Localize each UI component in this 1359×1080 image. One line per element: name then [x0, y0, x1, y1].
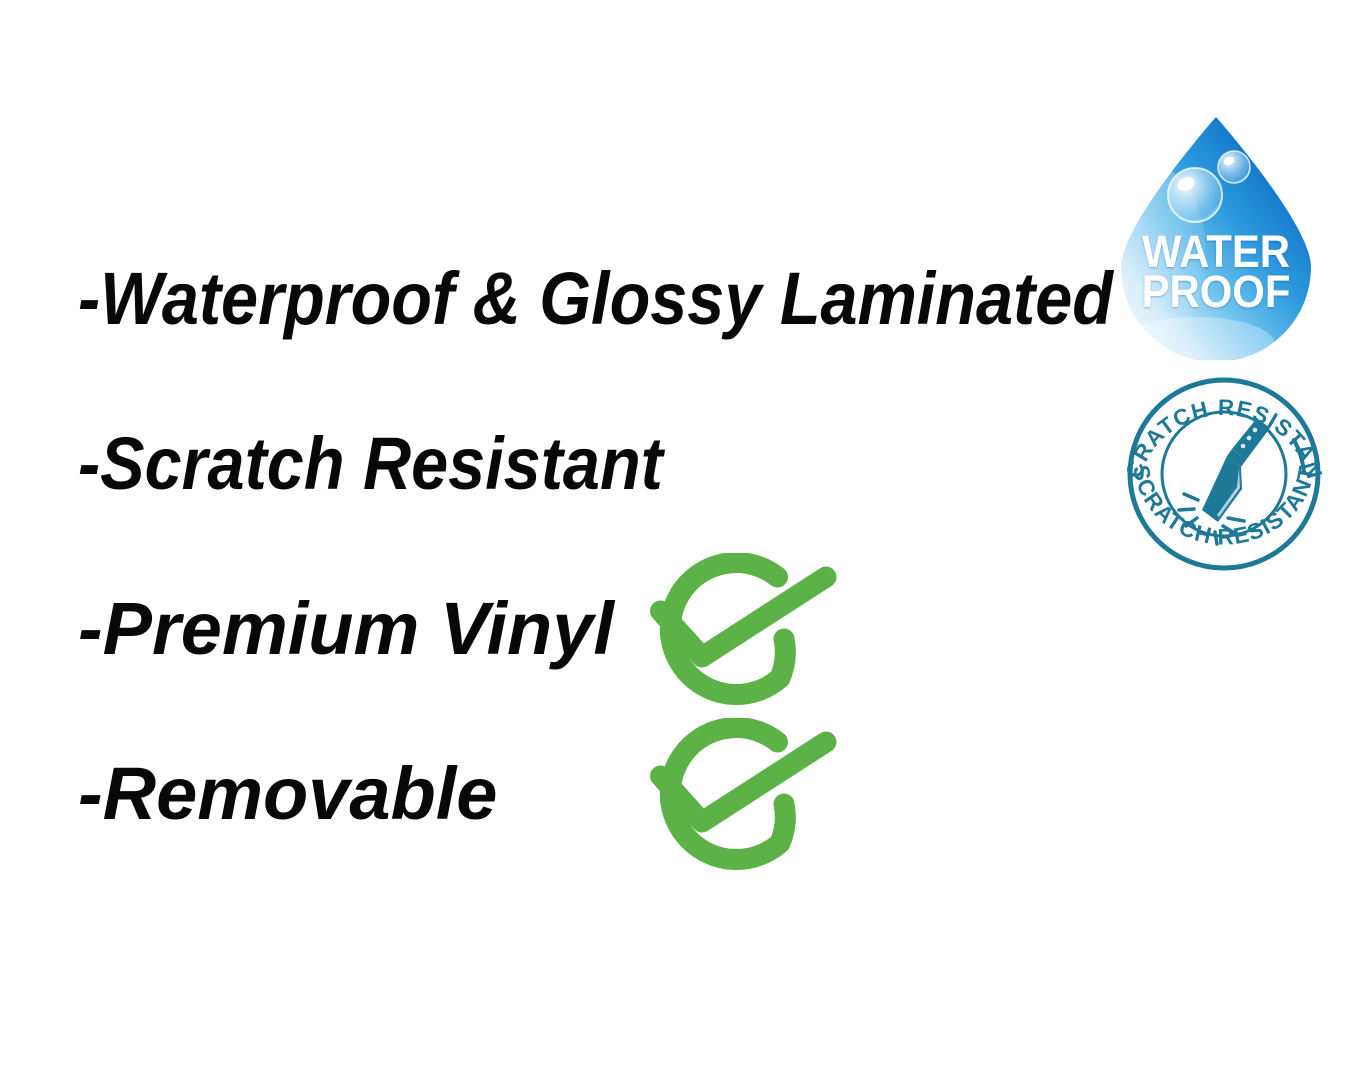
promo-feature-graphic: -Waterproof & Glossy Laminated -Scratch … — [0, 0, 1359, 1080]
green-check-circle-icon — [640, 553, 840, 713]
water-bubble-icon — [1218, 151, 1250, 183]
scratch-resistant-badge: SCRATCH RESISTANT SCRATCH RESISTANT — [1118, 376, 1330, 572]
feature-item-scratch-resistant: -Scratch Resistant — [78, 427, 663, 501]
feature-item-premium-vinyl: -Premium Vinyl — [78, 592, 614, 666]
waterproof-drop-badge: WATER PROOF — [1100, 105, 1332, 360]
knife-icon — [1202, 418, 1270, 522]
feature-item-removable: -Removable — [78, 757, 497, 831]
feature-item-waterproof-glossy-laminated: -Waterproof & Glossy Laminated — [78, 262, 1113, 336]
water-bubble-icon — [1168, 168, 1222, 222]
green-check-circle-icon — [640, 718, 840, 878]
